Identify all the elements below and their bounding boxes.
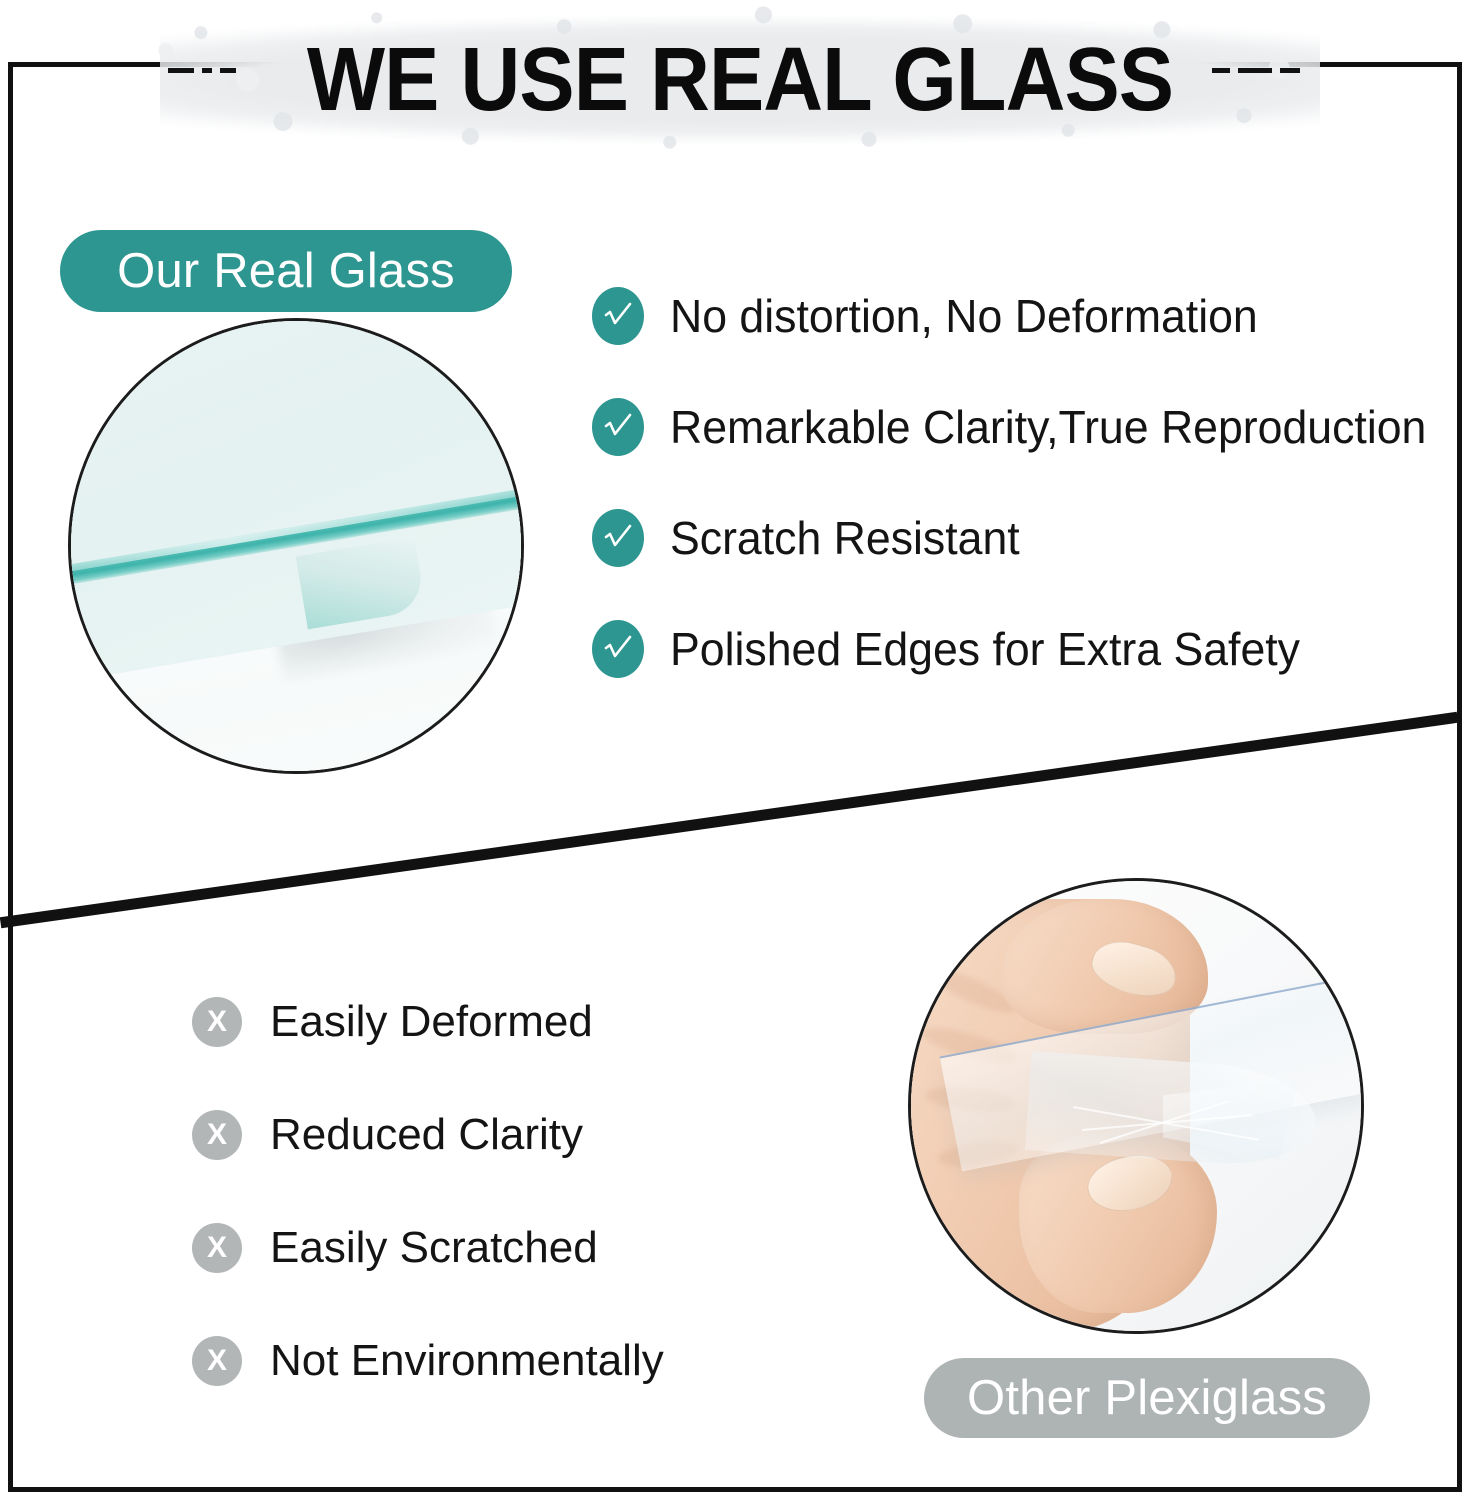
photo-real-glass-content	[71, 321, 521, 771]
list-item-label: No distortion, No Deformation	[670, 293, 1258, 339]
check-icon	[592, 509, 644, 567]
badge-our-real-glass: Our Real Glass	[60, 230, 512, 312]
check-icon	[592, 287, 644, 345]
badge-our-real-glass-label: Our Real Glass	[117, 243, 455, 299]
list-item-label: Easily Scratched	[270, 1226, 598, 1270]
list-item-label: Remarkable Clarity,True Reproduction	[670, 404, 1426, 450]
photo-real-glass	[68, 318, 524, 774]
list-item: No distortion, No Deformation	[592, 286, 1462, 346]
list-item-label: Easily Deformed	[270, 1000, 593, 1044]
list-item: X Not Environmentally	[192, 1331, 752, 1391]
x-icon: X	[192, 1110, 242, 1160]
list-item-label: Polished Edges for Extra Safety	[670, 626, 1300, 672]
photo-plexiglass	[908, 878, 1364, 1334]
photo-plexiglass-content	[911, 881, 1361, 1331]
x-icon: X	[192, 1223, 242, 1273]
check-icon	[592, 398, 644, 456]
frame-gap-segment	[168, 68, 194, 73]
x-icon: X	[192, 1336, 242, 1386]
list-item: X Reduced Clarity	[192, 1105, 752, 1165]
list-item: Scratch Resistant	[592, 508, 1462, 568]
badge-other-plexiglass: Other Plexiglass	[924, 1358, 1370, 1438]
frame-gap-segment	[1280, 68, 1300, 73]
list-item: Remarkable Clarity,True Reproduction	[592, 397, 1462, 457]
list-item-label: Scratch Resistant	[670, 515, 1020, 561]
list-item: X Easily Deformed	[192, 992, 752, 1052]
feature-list-pros: No distortion, No Deformation Remarkable…	[592, 286, 1462, 679]
check-icon	[592, 620, 644, 678]
badge-other-plexiglass-label: Other Plexiglass	[967, 1370, 1327, 1426]
page-title: WE USE REAL GLASS	[206, 6, 1273, 154]
comparison-infographic: WE USE REAL GLASS Our Real Glass No dist…	[0, 0, 1474, 1500]
title-banner: WE USE REAL GLASS	[160, 6, 1320, 154]
feature-list-cons: X Easily Deformed X Reduced Clarity X Ea…	[192, 992, 752, 1391]
list-item: X Easily Scratched	[192, 1218, 752, 1278]
x-icon: X	[192, 997, 242, 1047]
list-item: Polished Edges for Extra Safety	[592, 619, 1462, 679]
list-item-label: Reduced Clarity	[270, 1113, 583, 1157]
list-item-label: Not Environmentally	[270, 1339, 664, 1383]
